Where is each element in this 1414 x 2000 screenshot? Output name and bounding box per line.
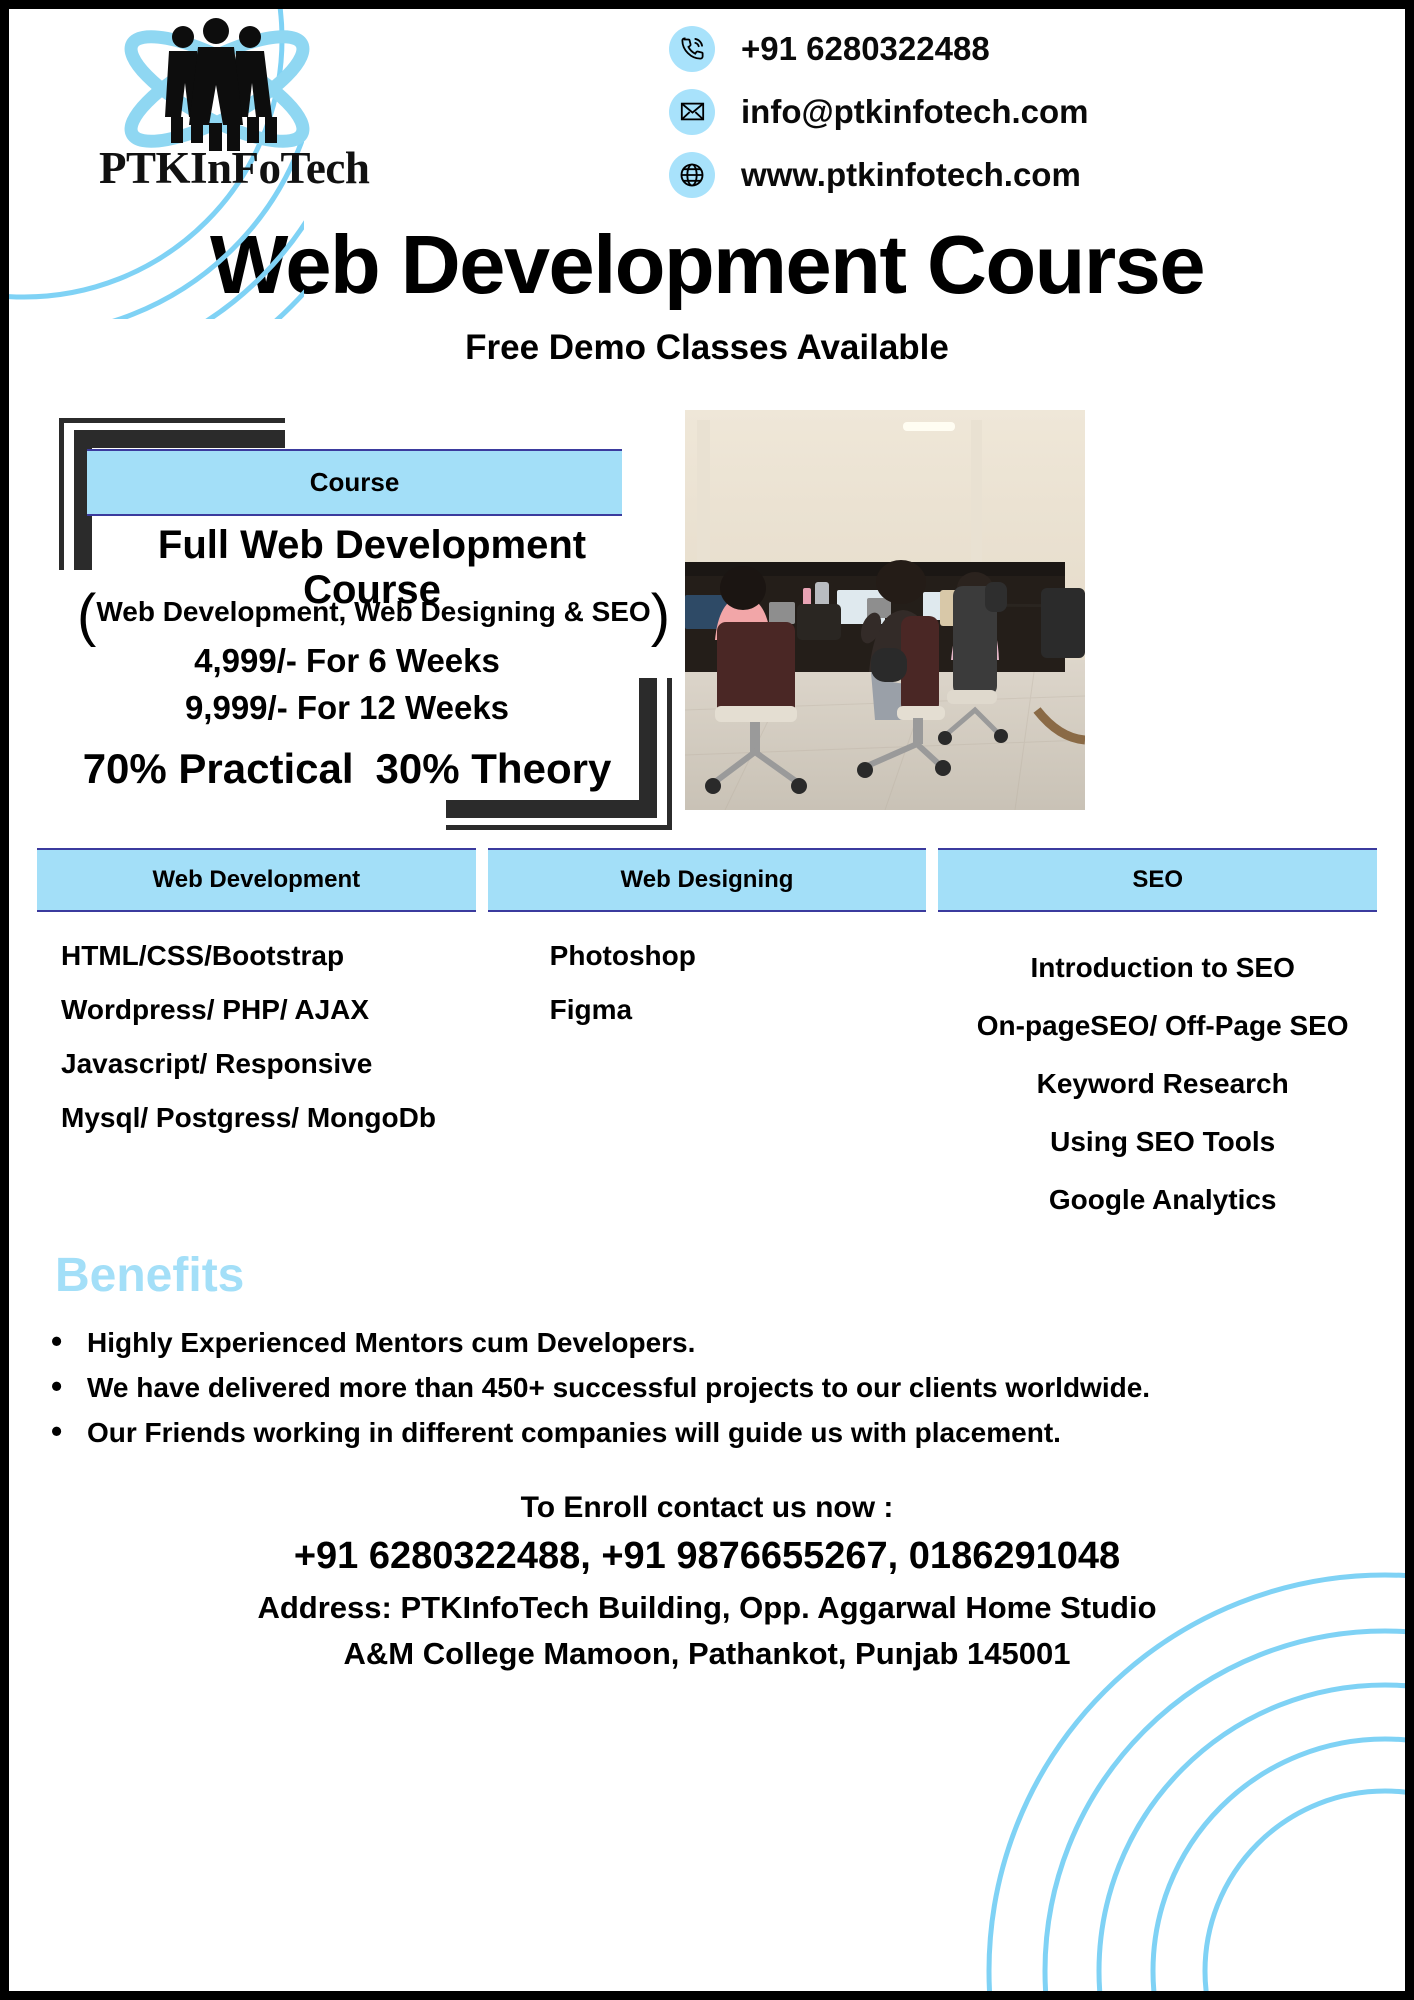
list-item: Google Analytics: [948, 1184, 1377, 1216]
contact-phone-text: +91 6280322488: [741, 30, 990, 68]
column-body-web-designing: Photoshop Figma: [488, 912, 927, 1026]
enroll-text: To Enroll contact us now :: [9, 1491, 1405, 1525]
list-item: Wordpress/ PHP/ AJAX: [61, 994, 476, 1026]
column-body-web-development: HTML/CSS/Bootstrap Wordpress/ PHP/ AJAX …: [37, 912, 476, 1134]
column-heading-label: Web Designing: [621, 866, 794, 894]
column-web-designing: Web Designing Photoshop Figma: [488, 848, 927, 1242]
price-12-weeks: 9,999/- For 12 Weeks: [47, 689, 647, 727]
column-web-development: Web Development HTML/CSS/Bootstrap Wordp…: [37, 848, 476, 1242]
contact-row-website[interactable]: www.ptkinfotech.com: [669, 145, 1389, 204]
column-seo: SEO Introduction to SEO On-pageSEO/ Off-…: [938, 848, 1377, 1242]
three-people-atom-logo-icon: [97, 17, 337, 157]
practical-theory-ratio: 70% Practical30% Theory: [47, 745, 647, 793]
list-item: Figma: [550, 994, 927, 1026]
phone-icon: [669, 26, 715, 72]
header: PTKInFoTech +91 6280322488: [9, 9, 1405, 209]
scope-open-paren: (: [77, 583, 96, 648]
column-heading-label: SEO: [1132, 866, 1183, 894]
office-photo-illustration: [685, 410, 1085, 810]
list-item: HTML/CSS/Bootstrap: [61, 940, 476, 972]
scope-close-paren: ): [651, 583, 670, 648]
contact-row-phone[interactable]: +91 6280322488: [669, 19, 1389, 78]
list-item: Keyword Research: [948, 1068, 1377, 1100]
course-section: Course Full Web Development Course (Web …: [9, 410, 1405, 830]
scope-text: Web Development, Web Designing & SEO: [96, 596, 650, 627]
contact-row-email[interactable]: info@ptkinfotech.com: [669, 82, 1389, 141]
ratio-practical: 70% Practical: [83, 745, 354, 792]
brand-logo: PTKInFoTech: [77, 17, 437, 207]
footer-phones[interactable]: +91 6280322488, +91 9876655267, 01862910…: [9, 1535, 1405, 1578]
ratio-theory: 30% Theory: [376, 745, 612, 792]
poster-root: PTKInFoTech +91 6280322488: [0, 0, 1414, 2000]
page-title: Web Development Course: [9, 223, 1405, 306]
footer-address-line-2: A&M College Mamoon, Pathankot, Punjab 14…: [9, 1636, 1405, 1672]
syllabus-columns: Web Development HTML/CSS/Bootstrap Wordp…: [9, 848, 1405, 1242]
list-item: Our Friends working in different compani…: [43, 1417, 1405, 1449]
course-scope: (Web Development, Web Designing & SEO): [77, 582, 657, 649]
brand-logo-text: PTKInFoTech: [99, 142, 369, 194]
contact-list: +91 6280322488 info@ptkinfotech.com: [669, 19, 1389, 208]
footer: To Enroll contact us now : +91 628032248…: [9, 1491, 1405, 1672]
benefits-heading: Benefits: [55, 1248, 1405, 1303]
list-item: Using SEO Tools: [948, 1126, 1377, 1158]
course-banner-label: Course: [310, 467, 400, 498]
footer-address-line-1: Address: PTKInfoTech Building, Opp. Agga…: [9, 1590, 1405, 1626]
globe-icon: [669, 152, 715, 198]
list-item: Highly Experienced Mentors cum Developer…: [43, 1327, 1405, 1359]
column-header-web-designing: Web Designing: [488, 848, 927, 912]
contact-website-text: www.ptkinfotech.com: [741, 156, 1081, 194]
list-item: Javascript/ Responsive: [61, 1048, 476, 1080]
price-6-weeks: 4,999/- For 6 Weeks: [47, 642, 647, 680]
email-icon: [669, 89, 715, 135]
office-photo: [685, 410, 1085, 810]
list-item: Introduction to SEO: [948, 952, 1377, 984]
list-item: On-pageSEO/ Off-Page SEO: [948, 1010, 1377, 1042]
column-header-web-development: Web Development: [37, 848, 476, 912]
contact-email-text: info@ptkinfotech.com: [741, 93, 1089, 131]
column-body-seo: Introduction to SEO On-pageSEO/ Off-Page…: [938, 912, 1377, 1216]
benefits-list: Highly Experienced Mentors cum Developer…: [43, 1327, 1405, 1449]
list-item: Mysql/ Postgress/ MongoDb: [61, 1102, 476, 1134]
list-item: Photoshop: [550, 940, 927, 972]
column-heading-label: Web Development: [153, 866, 361, 894]
course-banner: Course: [87, 449, 622, 516]
column-header-seo: SEO: [938, 848, 1377, 912]
page-subtitle: Free Demo Classes Available: [9, 328, 1405, 368]
list-item: We have delivered more than 450+ success…: [43, 1372, 1405, 1404]
